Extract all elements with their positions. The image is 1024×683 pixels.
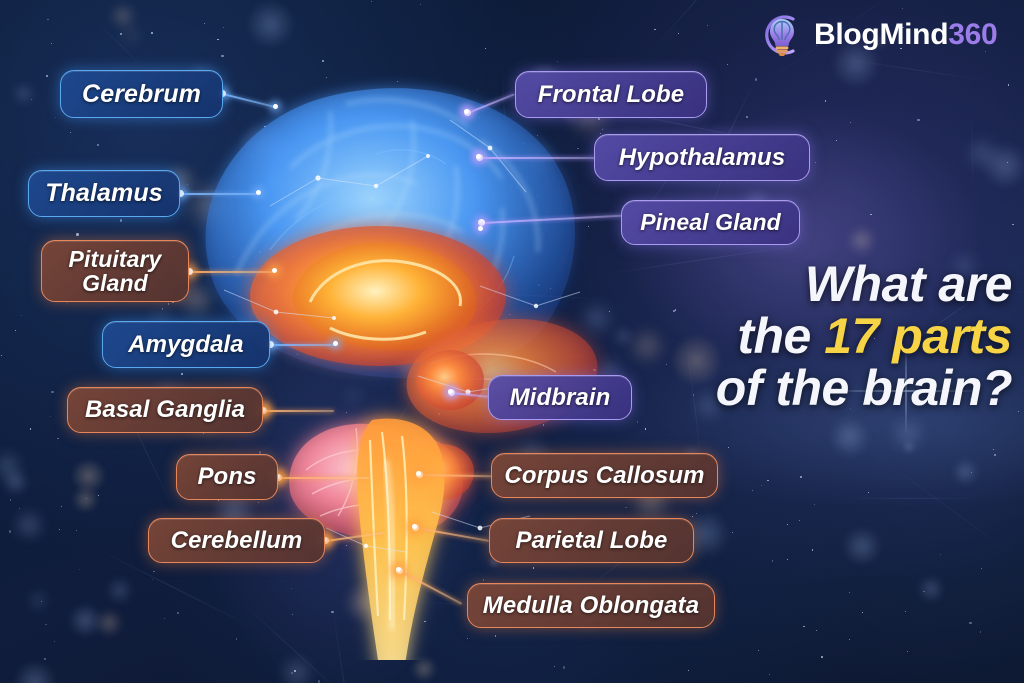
label-thalamus-text: Thalamus	[45, 180, 163, 207]
conn-parietal-lobe	[416, 527, 489, 541]
label-frontal-lobe[interactable]: Frontal Lobe	[515, 71, 707, 118]
label-basal-ganglia-text: Basal Ganglia	[85, 397, 245, 422]
label-parietal-lobe[interactable]: Parietal Lobe	[489, 518, 694, 563]
label-corpus-callosum[interactable]: Corpus Callosum	[491, 453, 718, 498]
conn-cerebellum	[326, 532, 384, 542]
brand-name: BlogMind360	[814, 18, 997, 52]
conn-hypothalamus-node	[476, 154, 483, 161]
conn-pineal-gland-node	[478, 219, 485, 226]
label-medulla-oblongata[interactable]: Medulla Oblongata	[467, 583, 715, 628]
conn-amygdala-anchor	[333, 341, 338, 346]
conn-frontal-lobe	[468, 93, 515, 113]
label-amygdala-text: Amygdala	[128, 332, 244, 357]
conn-medulla-oblongata-node	[396, 567, 403, 574]
label-cerebrum[interactable]: Cerebrum	[60, 70, 223, 118]
conn-midbrain-node	[448, 389, 455, 396]
label-pineal-gland[interactable]: Pineal Gland	[621, 200, 800, 245]
brain-lightbulb-icon	[758, 11, 806, 59]
label-corpus-callosum-text: Corpus Callosum	[504, 463, 704, 488]
label-pineal-gland-text: Pineal Gland	[640, 210, 781, 234]
conn-pineal-gland	[482, 215, 622, 224]
label-hypothalamus[interactable]: Hypothalamus	[594, 134, 810, 181]
conn-parietal-lobe-anchor	[412, 524, 417, 529]
conn-cerebrum	[223, 93, 276, 108]
brand-name-accent: 360	[948, 18, 997, 51]
headline-highlight: 17 parts	[824, 308, 1012, 364]
headline-line-1: What are	[636, 258, 1012, 310]
conn-midbrain	[452, 392, 490, 397]
label-frontal-lobe-text: Frontal Lobe	[538, 82, 685, 107]
label-basal-ganglia[interactable]: Basal Ganglia	[67, 387, 263, 433]
label-medulla-oblongata-text: Medulla Oblongata	[483, 593, 699, 618]
headline-line-2: the 17 parts	[636, 310, 1012, 362]
conn-hypothalamus-anchor	[476, 154, 481, 159]
page-title: What are the 17 parts of the brain?	[636, 258, 1012, 414]
label-midbrain[interactable]: Midbrain	[488, 375, 632, 420]
headline-line-2-prefix: the	[737, 308, 824, 364]
conn-pituitary-gland	[190, 271, 276, 273]
label-hypothalamus-text: Hypothalamus	[619, 145, 786, 170]
headline-line-3: of the brain?	[636, 362, 1012, 414]
label-midbrain-text: Midbrain	[510, 385, 611, 410]
conn-corpus-callosum-anchor	[416, 471, 421, 476]
label-pituitary-gland-text: Pituitary Gland	[54, 247, 176, 296]
label-amygdala[interactable]: Amygdala	[102, 321, 270, 368]
label-pons-text: Pons	[197, 464, 256, 489]
conn-pineal-gland-anchor	[478, 226, 483, 231]
conn-frontal-lobe-node	[464, 109, 471, 116]
infographic-canvas: CerebrumThalamusPituitary GlandAmygdalaB…	[0, 0, 1024, 683]
conn-basal-ganglia	[264, 410, 334, 412]
label-cerebrum-text: Cerebrum	[82, 81, 201, 108]
conn-medulla-oblongata	[400, 570, 463, 604]
brand-logo[interactable]: BlogMind360	[758, 8, 1010, 62]
label-cerebellum[interactable]: Cerebellum	[148, 518, 325, 563]
conn-cerebrum-anchor	[273, 104, 278, 109]
label-cerebellum-text: Cerebellum	[171, 528, 303, 553]
label-parietal-lobe-text: Parietal Lobe	[515, 528, 667, 553]
conn-corpus-callosum	[420, 474, 492, 477]
label-pons[interactable]: Pons	[176, 454, 278, 500]
label-pituitary-gland[interactable]: Pituitary Gland	[41, 240, 189, 302]
conn-pons	[279, 477, 369, 479]
conn-thalamus	[181, 193, 259, 195]
conn-frontal-lobe-anchor	[464, 109, 469, 114]
brand-name-primary: BlogMind	[814, 18, 948, 51]
conn-parietal-lobe-node	[412, 524, 419, 531]
conn-hypothalamus	[480, 157, 596, 159]
conn-thalamus-anchor	[256, 190, 261, 195]
conn-corpus-callosum-node	[416, 471, 423, 478]
conn-midbrain-anchor	[448, 389, 453, 394]
conn-amygdala	[271, 344, 337, 346]
conn-medulla-oblongata-anchor	[396, 567, 401, 572]
conn-pituitary-gland-anchor	[272, 268, 277, 273]
label-thalamus[interactable]: Thalamus	[28, 170, 180, 217]
